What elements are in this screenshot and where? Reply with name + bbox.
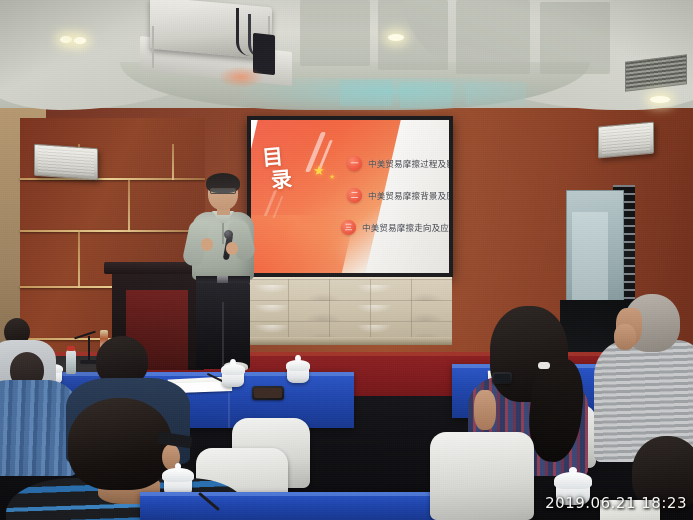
presentation-slide: ★ ★ 目 录 一 中美贸易摩擦过程及影响 二 中美贸易摩擦背景及原因 三 中美… (251, 120, 449, 273)
presenter-right-hand (226, 242, 238, 255)
slide-star-icon-small: ★ (329, 174, 335, 181)
person-hand (614, 324, 636, 350)
slide-toc-text: 中美贸易摩擦走向及应对 (362, 222, 449, 234)
slide-toc-text: 中美贸易摩擦过程及影响 (368, 158, 449, 170)
ceiling-downlight (60, 36, 72, 43)
slide-toc-item-1: 一 中美贸易摩擦过程及影响 (347, 156, 449, 171)
projector-beam-glow (218, 66, 264, 88)
wall-speaker-left (34, 144, 98, 180)
chair (430, 432, 534, 520)
ceiling-downlight (650, 96, 670, 103)
teacup (287, 358, 309, 384)
presenter-glasses (210, 188, 236, 194)
microphone-capsule (224, 230, 233, 239)
slide-heading-char-2: 录 (270, 168, 294, 191)
decorative-wall-skirt (247, 337, 452, 345)
teacup (222, 362, 244, 388)
slide-toc-item-2: 二 中美贸易摩擦背景及原因 (347, 188, 449, 203)
camera-timestamp: 2019.06.21 18:23 (545, 494, 687, 512)
ceiling-downlight (388, 34, 404, 41)
slide-red-graphic-lower (251, 215, 355, 273)
bottle-cap (67, 346, 75, 351)
slide-heading: 目 录 (261, 145, 294, 191)
slide-toc-number: 二 (347, 188, 362, 203)
slide-star-icon: ★ (313, 164, 325, 177)
projection-screen: ★ ★ 目 录 一 中美贸易摩擦过程及影响 二 中美贸易摩擦背景及原因 三 中美… (247, 116, 453, 277)
ceiling-panel (300, 0, 370, 66)
presenter-left-hand (201, 238, 213, 251)
ceiling (0, 0, 693, 108)
hair-clip (538, 362, 550, 369)
ceiling-panel (540, 2, 610, 74)
decorative-wall-panels (247, 277, 452, 339)
smartphone-on-table (252, 386, 284, 400)
person-head (68, 398, 172, 490)
ceiling-panel (456, 0, 530, 74)
slide-toc-number: 一 (347, 156, 362, 171)
person-arm (474, 390, 496, 430)
ceiling-downlight (74, 37, 86, 44)
slide-toc-text: 中美贸易摩擦背景及原因 (368, 190, 449, 202)
screen-surface: ★ ★ 目 录 一 中美贸易摩擦过程及影响 二 中美贸易摩擦背景及原因 三 中美… (251, 120, 449, 273)
slide-toc-number: 三 (341, 220, 356, 235)
slide-heading-char-1: 目 (261, 145, 292, 168)
device-on-table (492, 372, 512, 384)
slide-toc-item-3: 三 中美贸易摩擦走向及应对 (341, 220, 449, 235)
presenter-belt-buckle (217, 276, 228, 283)
wall-speaker-right (598, 122, 654, 159)
table-foreground (140, 492, 440, 520)
conference-room-photo: ★ ★ 目 录 一 中美贸易摩擦过程及影响 二 中美贸易摩擦背景及原因 三 中美… (0, 0, 693, 520)
